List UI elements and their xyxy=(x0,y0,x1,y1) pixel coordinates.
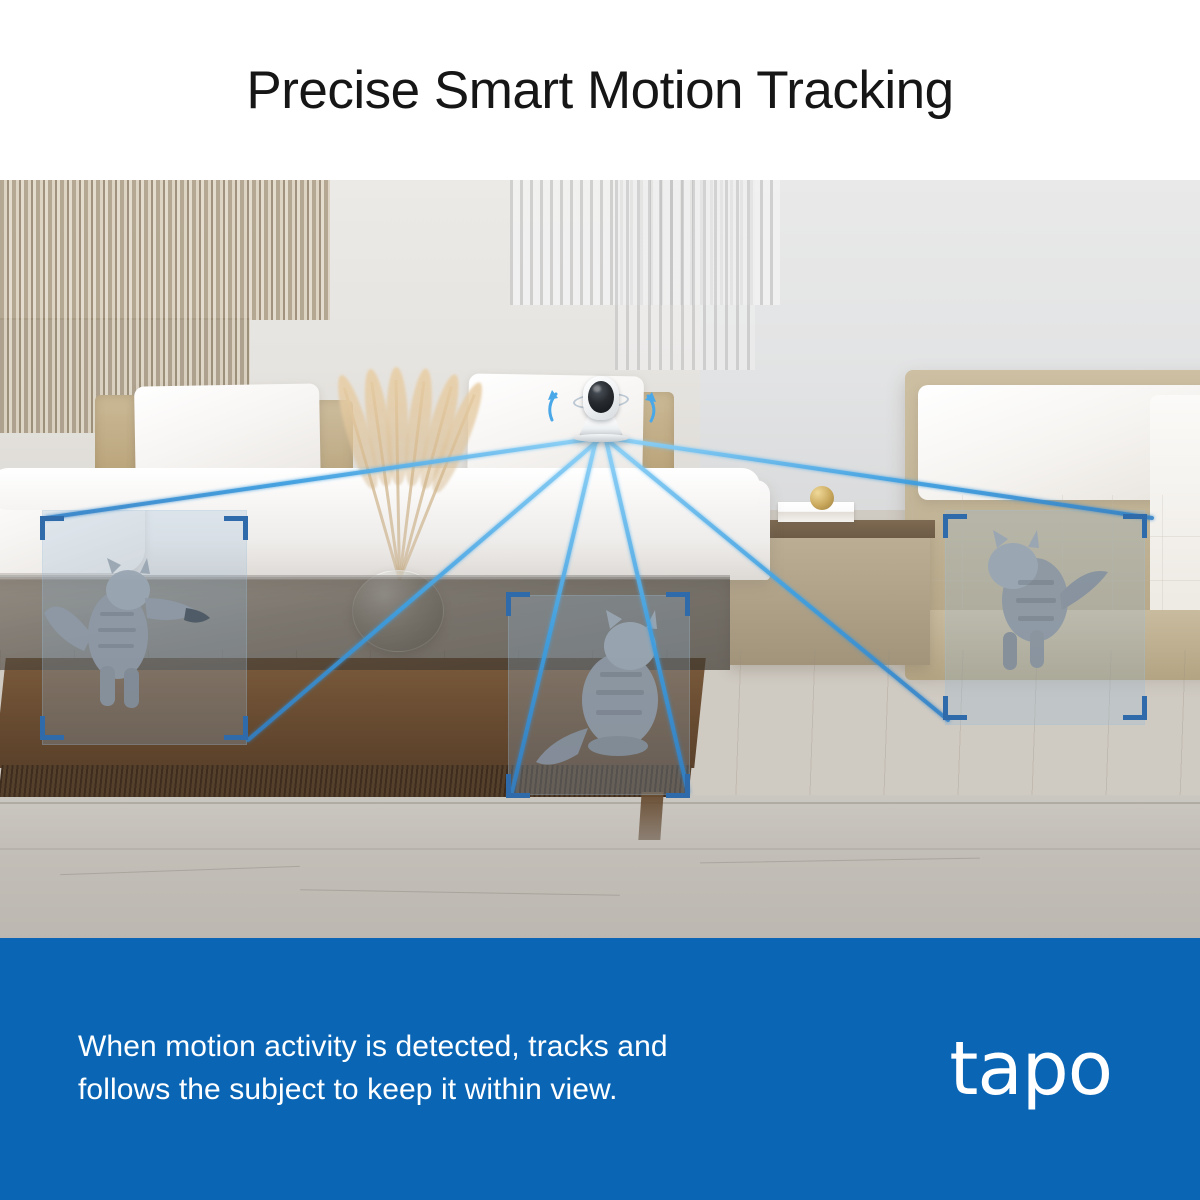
floor-stone-tiles xyxy=(0,795,1200,938)
bracket-corner-br xyxy=(224,716,248,740)
tile-seam-2 xyxy=(0,848,1200,850)
vertical-slat-panel-2 xyxy=(615,180,755,370)
tapo-logo: tapo xyxy=(949,1032,1128,1106)
banner-caption: When motion activity is detected, tracks… xyxy=(78,1026,668,1111)
header-band: Precise Smart Motion Tracking xyxy=(0,0,1200,180)
wood-slat-panel xyxy=(0,180,330,320)
bottom-banner: When motion activity is detected, tracks… xyxy=(0,938,1200,1200)
bracket-corner-tr xyxy=(224,516,248,540)
banner-caption-line-2: follows the subject to keep it within vi… xyxy=(78,1069,668,1112)
tracking-bracket-center xyxy=(506,592,690,798)
camera-lens-glint xyxy=(593,385,601,392)
poster-root: Precise Smart Motion Tracking xyxy=(0,0,1200,1200)
tile-seam-1 xyxy=(0,802,1200,804)
tracking-bracket-right xyxy=(943,514,1147,720)
camera-lens-icon xyxy=(588,381,614,413)
coffee-table-leg xyxy=(638,792,663,840)
bracket-corner-tr xyxy=(666,592,690,616)
tapo-camera-device[interactable] xyxy=(561,376,641,446)
bracket-corner-bl xyxy=(40,716,64,740)
bracket-corner-tl xyxy=(943,514,967,538)
scene-photo xyxy=(0,180,1200,938)
camera-foot xyxy=(573,434,629,442)
bracket-corner-bl xyxy=(506,774,530,798)
page-title: Precise Smart Motion Tracking xyxy=(246,60,953,121)
bracket-corner-br xyxy=(666,774,690,798)
bracket-corner-tr xyxy=(1123,514,1147,538)
bracket-corner-br xyxy=(1123,696,1147,720)
gold-sphere-decor xyxy=(810,486,834,510)
banner-caption-line-1: When motion activity is detected, tracks… xyxy=(78,1026,668,1069)
bracket-corner-tl xyxy=(40,516,64,540)
bracket-corner-bl xyxy=(943,696,967,720)
bracket-corner-tl xyxy=(506,592,530,616)
tracking-bracket-left xyxy=(40,516,248,740)
